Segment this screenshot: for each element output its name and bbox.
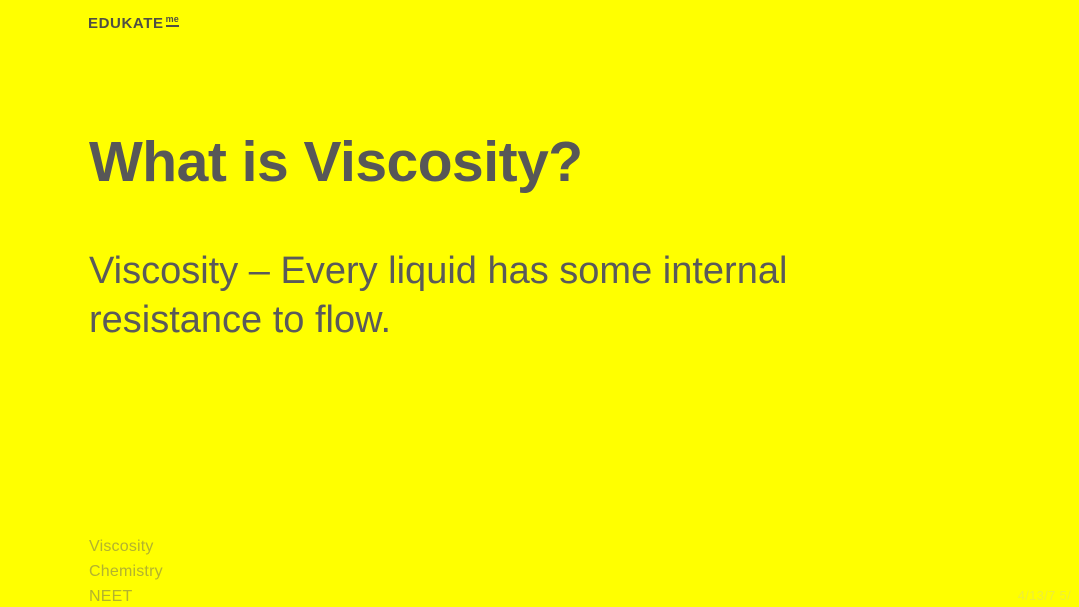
footer-tag: Chemistry	[89, 559, 163, 584]
brand-logo[interactable]: EDUKATE me	[88, 16, 179, 31]
corner-stamp: 4/13/7 5/	[1018, 588, 1071, 603]
footer-tag-list: Viscosity Chemistry NEET	[89, 534, 163, 607]
slide-canvas: EDUKATE me What is Viscosity? Viscosity …	[0, 0, 1079, 607]
footer-tag: Viscosity	[89, 534, 163, 559]
slide-title: What is Viscosity?	[89, 133, 583, 193]
footer-tag: NEET	[89, 584, 163, 607]
brand-logo-superscript: me	[166, 15, 179, 24]
brand-logo-word: EDUKATE	[88, 16, 164, 31]
slide-body-text: Viscosity – Every liquid has some intern…	[89, 247, 919, 346]
